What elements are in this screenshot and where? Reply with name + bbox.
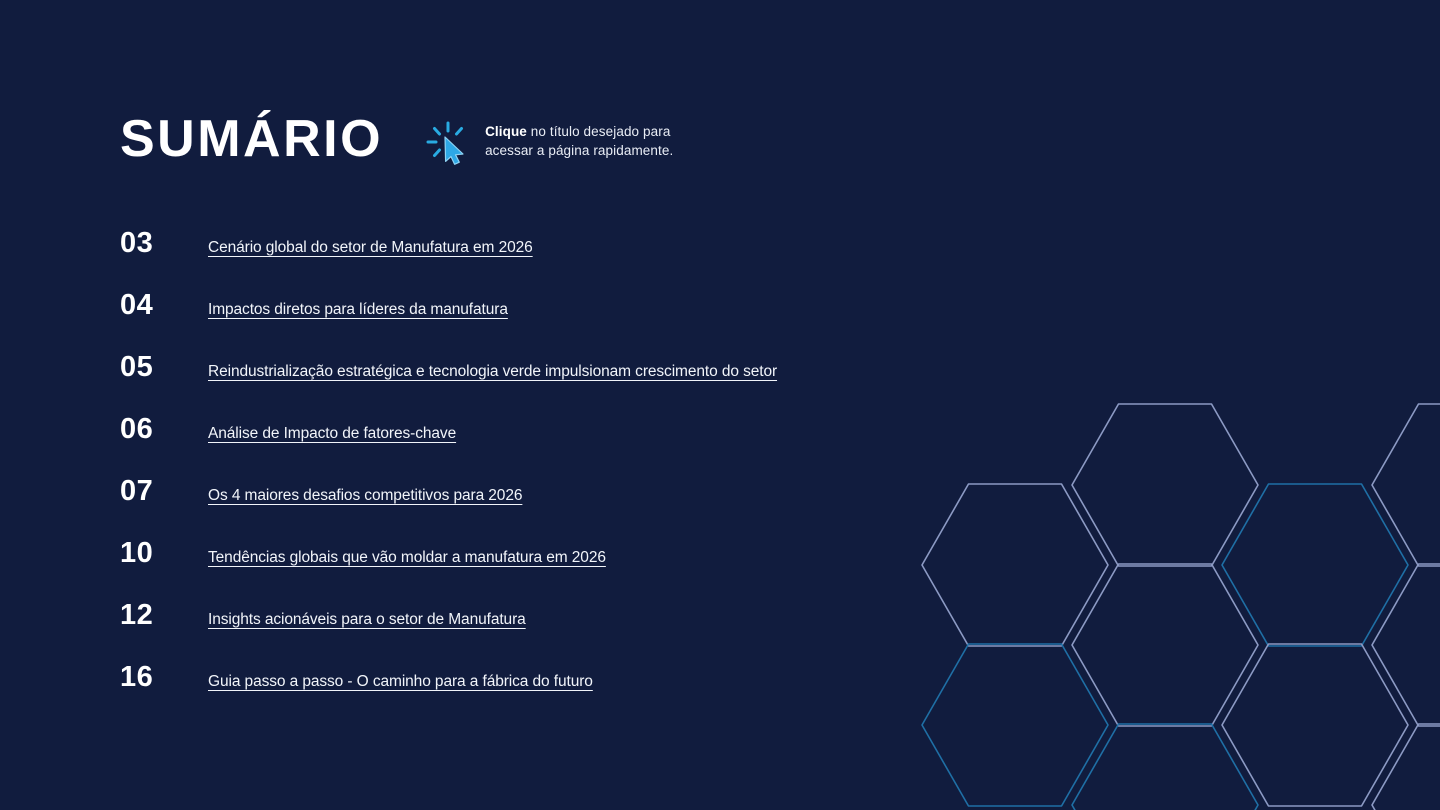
toc-row[interactable]: 16Guia passo a passo - O caminho para a … [120,660,920,722]
toc-page-number: 06 [120,412,182,446]
toc-page-number: 05 [120,350,182,384]
toc-row[interactable]: 03Cenário global do setor de Manufatura … [120,226,920,288]
toc-page-number: 10 [120,536,182,570]
toc-page-number: 03 [120,226,182,260]
toc-row[interactable]: 04Impactos diretos para líderes da manuf… [120,288,920,350]
toc-entry-link[interactable]: Cenário global do setor de Manufatura em… [208,238,533,258]
hexagon-pattern [900,340,1440,810]
hexagon [1372,724,1440,810]
page-title: SUMÁRIO [120,108,383,170]
toc-page-number: 16 [120,660,182,694]
hexagon-group [922,404,1440,810]
toc-entry-link[interactable]: Tendências globais que vão moldar a manu… [208,548,606,568]
toc-row[interactable]: 05Reindustrialização estratégica e tecno… [120,350,920,412]
toc-entry-link[interactable]: Análise de Impacto de fatores-chave [208,424,456,444]
hexagon [1072,404,1258,566]
toc-page-number: 04 [120,288,182,322]
click-hint: Clique no título desejado para acessar a… [425,118,700,166]
hexagon [1222,644,1408,806]
toc-entry-link[interactable]: Guia passo a passo - O caminho para a fá… [208,672,593,692]
toc-page-number: 07 [120,474,182,508]
toc-row[interactable]: 10Tendências globais que vão moldar a ma… [120,536,920,598]
hexagon [1072,564,1258,726]
slide-root: SUMÁRIO Clique no título desejado para a… [0,0,1440,810]
toc-row[interactable]: 06Análise de Impacto de fatores-chave [120,412,920,474]
toc-row[interactable]: 12Insights acionáveis para o setor de Ma… [120,598,920,660]
hexagon [1372,404,1440,566]
table-of-contents: 03Cenário global do setor de Manufatura … [120,226,920,722]
click-hint-text: Clique no título desejado para acessar a… [485,123,700,160]
click-cursor-icon [425,120,471,166]
click-hint-strong: Clique [485,124,527,139]
toc-entry-link[interactable]: Os 4 maiores desafios competitivos para … [208,486,522,506]
toc-entry-link[interactable]: Reindustrialização estratégica e tecnolo… [208,362,777,382]
hexagon [922,644,1108,806]
toc-page-number: 12 [120,598,182,632]
header: SUMÁRIO Clique no título desejado para a… [120,108,700,170]
hexagon [922,484,1108,646]
toc-entry-link[interactable]: Impactos diretos para líderes da manufat… [208,300,508,320]
hexagon [1372,564,1440,726]
hexagon [1072,724,1258,810]
hexagon [1222,484,1408,646]
toc-row[interactable]: 07Os 4 maiores desafios competitivos par… [120,474,920,536]
toc-entry-link[interactable]: Insights acionáveis para o setor de Manu… [208,610,526,630]
